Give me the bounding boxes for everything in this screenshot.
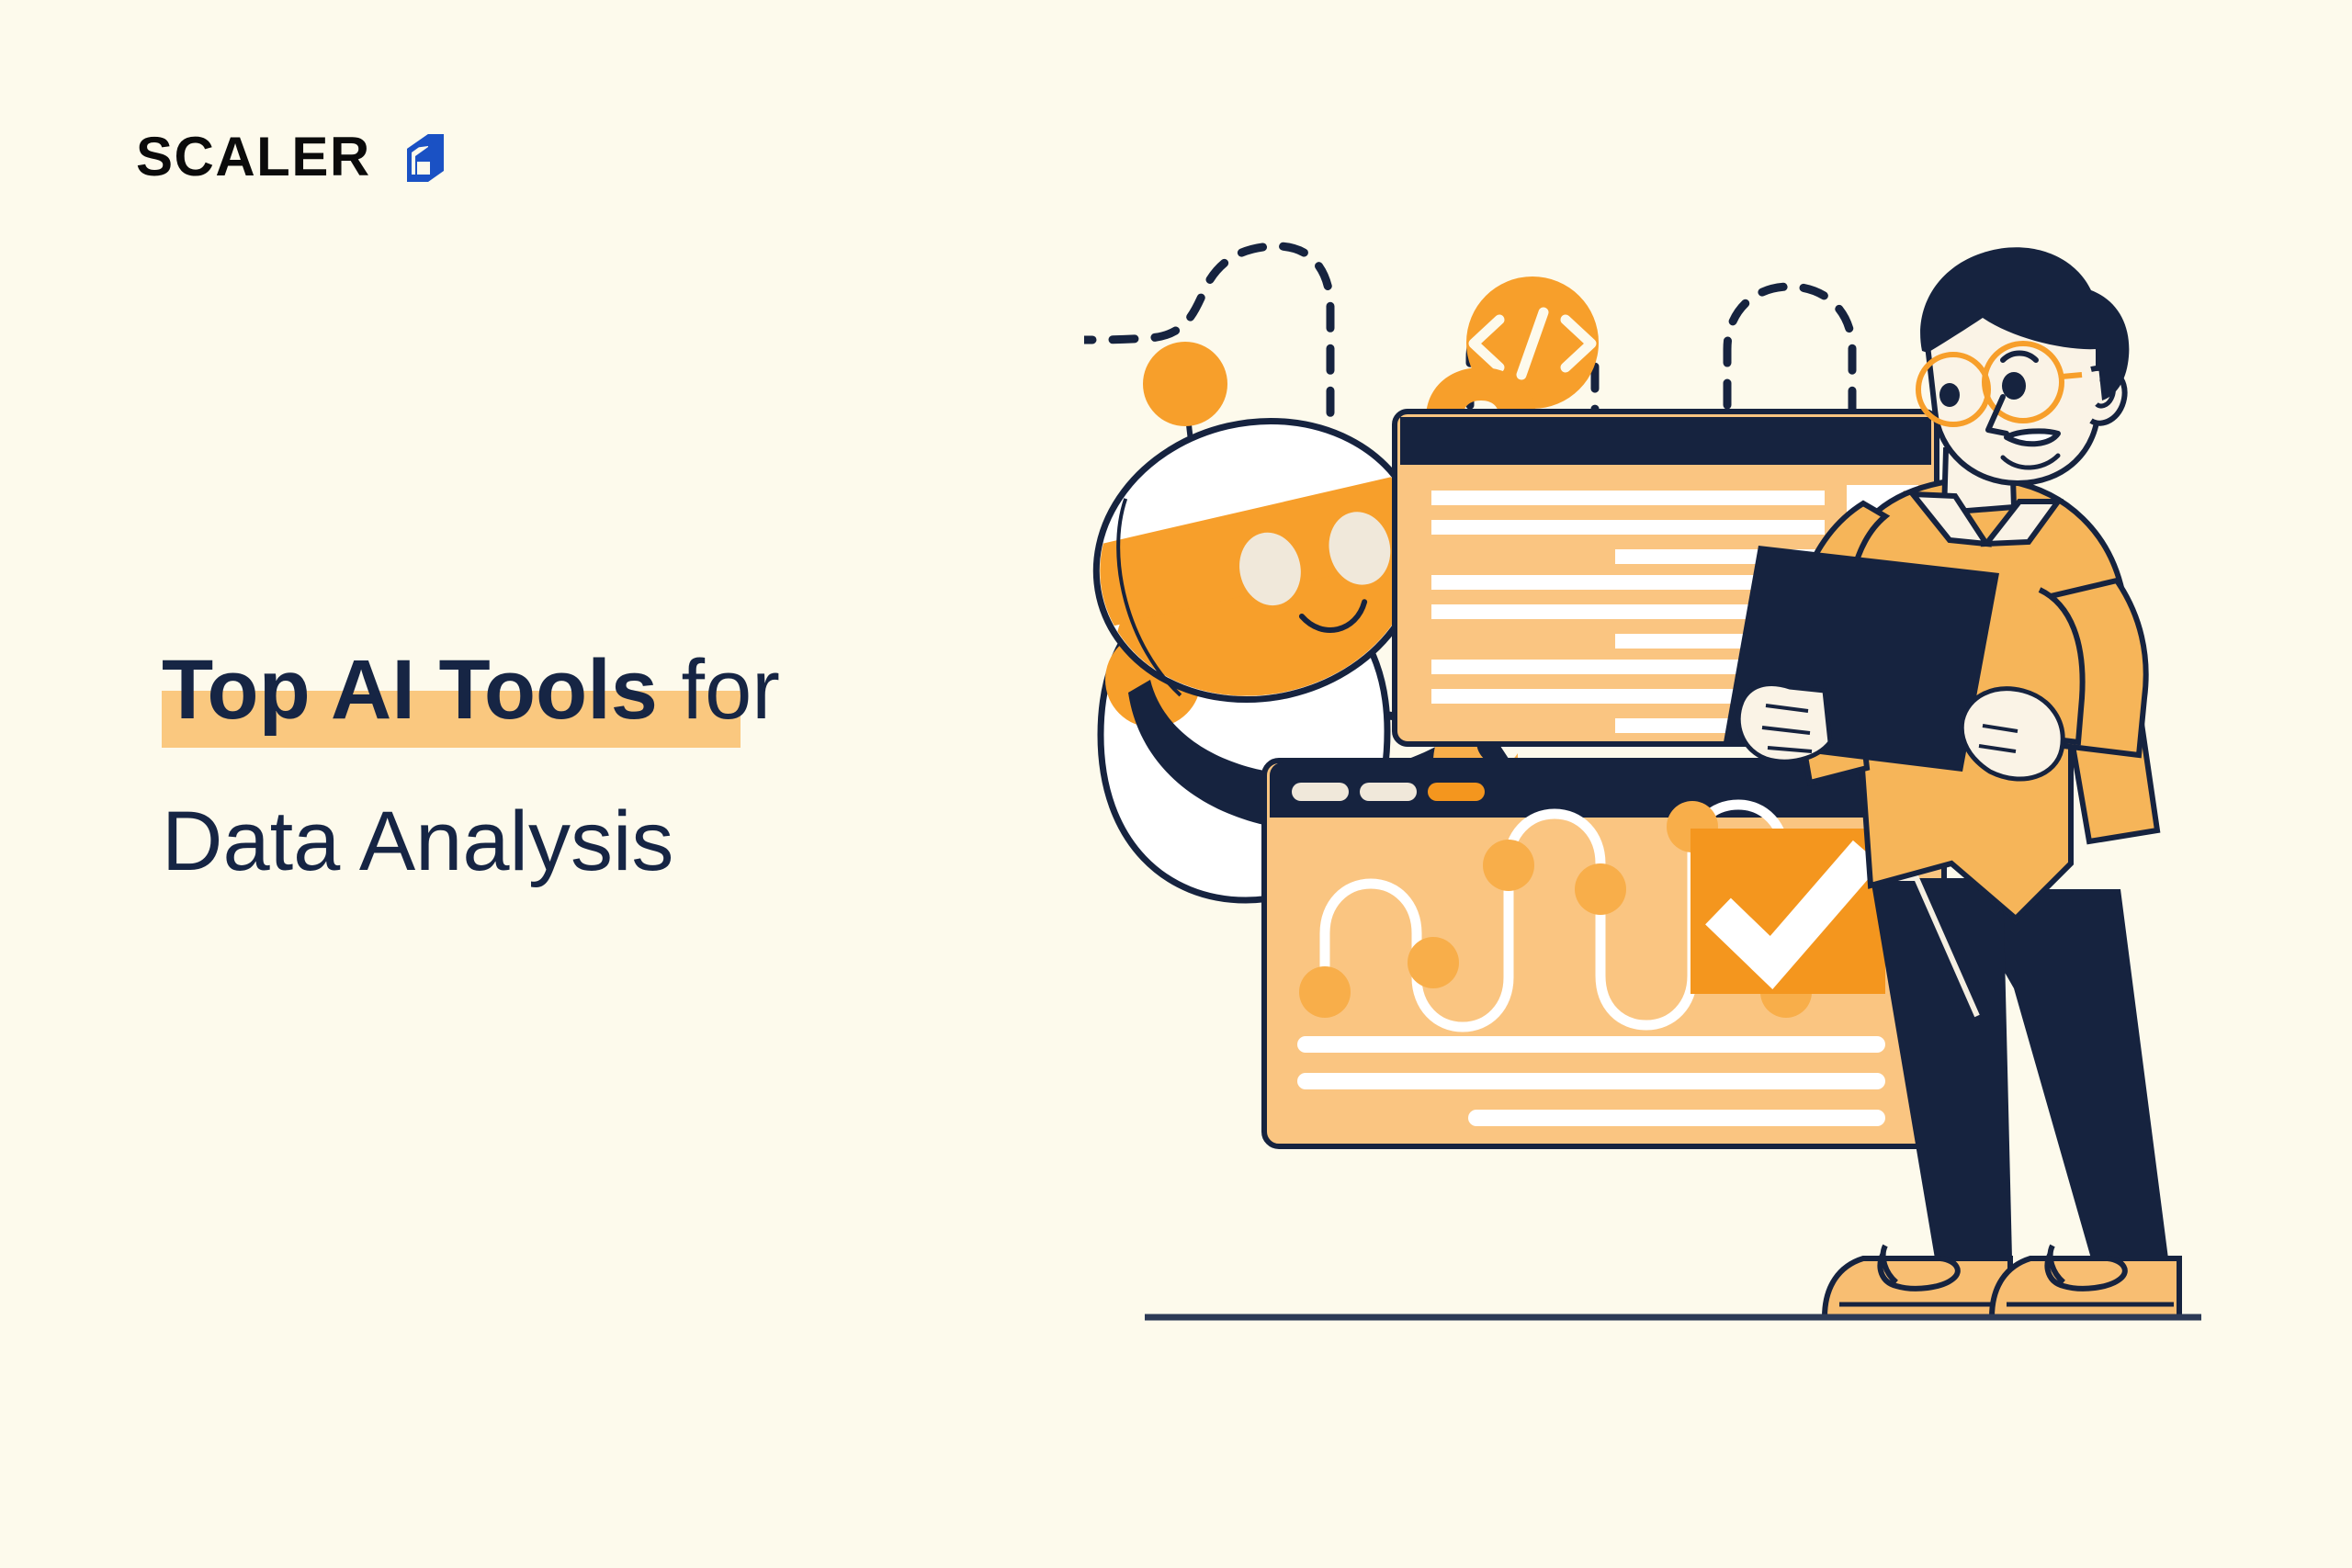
page-title: Top AI Tools for Data Analysis — [162, 634, 1080, 899]
window-dot-3 — [1428, 783, 1485, 801]
headline-line2-text: Data Analysis — [162, 795, 673, 888]
person-shoe-back — [1992, 1246, 2179, 1317]
poster-canvas: SCALER Top AI Tools for Data Analysis — [0, 0, 2352, 1568]
chart-point — [1408, 937, 1459, 988]
headline-emphasis: Top AI Tools — [162, 643, 658, 737]
brand-wordmark: SCALER — [136, 130, 371, 185]
window-text-line — [1297, 1073, 1885, 1089]
person-hand-left — [1738, 684, 1830, 762]
brand-logo[interactable]: SCALER — [136, 129, 448, 186]
window-dot-2 — [1360, 783, 1417, 801]
headline-line-2: Data Analysis — [162, 785, 1080, 898]
eye-right — [2002, 372, 2026, 400]
robot-antenna-ball — [1143, 342, 1227, 426]
check-tile — [1690, 829, 1885, 994]
eye-left — [1939, 383, 1960, 407]
headline-line1-rest: for — [658, 643, 780, 737]
person-head — [1918, 247, 2129, 483]
window-text-line — [1297, 1036, 1885, 1053]
chart-point — [1483, 840, 1534, 891]
clipboard-header — [1400, 417, 1931, 465]
chart-point — [1575, 863, 1626, 915]
window-text-line — [1468, 1110, 1885, 1126]
cube-icon — [391, 129, 448, 186]
headline-line-1: Top AI Tools for — [162, 634, 1080, 747]
person-shoe-front — [1825, 1246, 2010, 1317]
dashboard-browser-window — [1264, 761, 1944, 1146]
chart-point — [1299, 966, 1351, 1018]
hero-illustration — [1084, 220, 2260, 1323]
mouth — [2007, 431, 2058, 444]
window-dot-1 — [1292, 783, 1349, 801]
